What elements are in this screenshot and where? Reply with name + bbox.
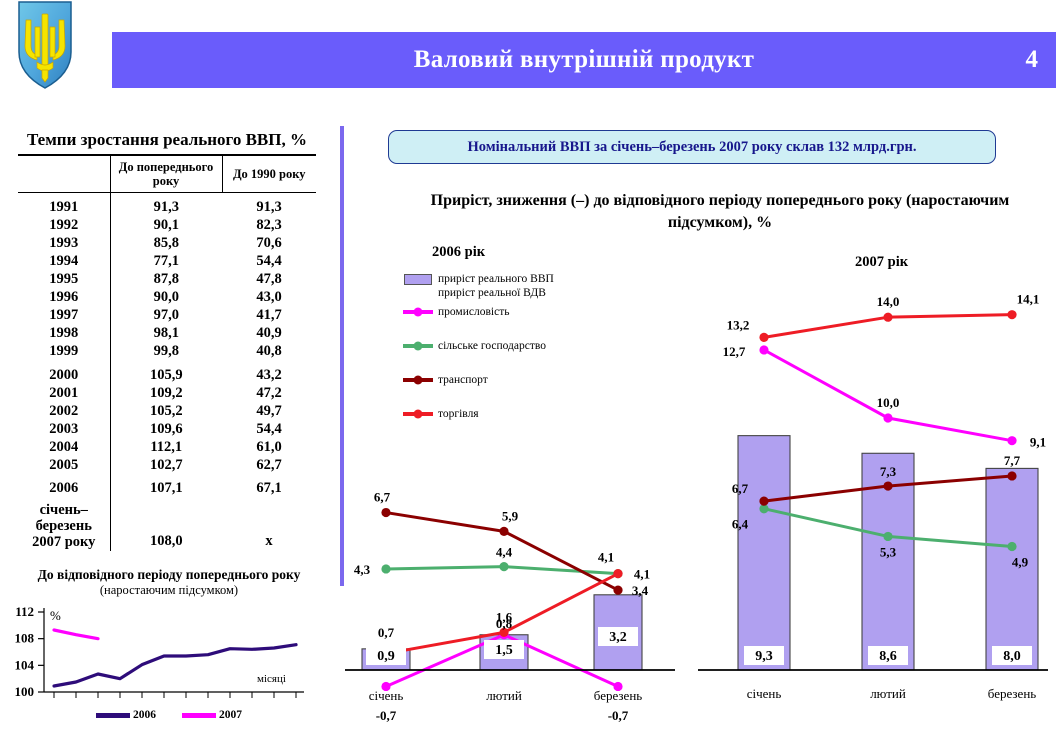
- label-сільське господарство-лютий: 4,4: [496, 545, 513, 560]
- table-row: 199999,840,8: [18, 343, 316, 361]
- cell-1990: 40,9: [222, 325, 316, 343]
- nominal-gdp-callout: Номінальний ВВП за січень–березень 2007 …: [388, 130, 996, 164]
- label-транспорт-березень: 7,7: [1004, 453, 1021, 468]
- cell-1990: 43,2: [222, 361, 316, 385]
- cell-prev-year: 90,1: [110, 217, 222, 235]
- legend-marker-industry: [400, 305, 436, 319]
- cell-prev-year: 90,0: [110, 289, 222, 307]
- cell-year: 2004: [18, 438, 110, 456]
- label-промисловість-січень: 12,7: [723, 344, 746, 359]
- point-промисловість-березень: [1007, 436, 1016, 445]
- column-header-prev-year: До попереднього року: [110, 155, 222, 193]
- label-транспорт-січень: 6,7: [374, 490, 391, 505]
- cell-1990: 70,6: [222, 235, 316, 253]
- label-сільське господарство-січень: 6,4: [732, 517, 749, 532]
- cell-1990: 54,4: [222, 253, 316, 271]
- table-row: 199587,847,8: [18, 271, 316, 289]
- cell-year: 2003: [18, 420, 110, 438]
- cell-prev-year: 85,8: [110, 235, 222, 253]
- cell-year: 2001: [18, 384, 110, 402]
- legend-label-gdp: приріст реального ВВП: [438, 272, 554, 286]
- point-транспорт-лютий: [499, 527, 508, 536]
- point-сільське господарство-січень: [381, 564, 390, 573]
- column-header-blank: [18, 155, 110, 193]
- mini-ytick: 100: [15, 684, 35, 699]
- label-торгівля-березень: 14,1: [1017, 292, 1040, 307]
- label-промисловість-січень: -0,7: [376, 708, 397, 723]
- table-row: 2002105,249,7: [18, 402, 316, 420]
- label-промисловість-березень: 9,1: [1030, 435, 1046, 450]
- cell-1990: 47,8: [222, 271, 316, 289]
- table-row: 2004112,161,0: [18, 438, 316, 456]
- cell-prev-year: 109,6: [110, 420, 222, 438]
- cell-period-label: січень–березень2007 року: [18, 498, 110, 551]
- mini-chart-x-unit: місяці: [257, 673, 286, 685]
- nominal-gdp-callout-text: Номінальний ВВП за січень–березень 2007 …: [467, 139, 916, 156]
- table-header-row: До попереднього року До 1990 року: [18, 155, 316, 193]
- label-транспорт-лютий: 7,3: [880, 464, 897, 479]
- label-промисловість-березень: -0,7: [608, 708, 629, 723]
- legend-marker-agriculture: [400, 339, 436, 353]
- cell-prev-year: 105,2: [110, 402, 222, 420]
- bar-label-лютий: 8,6: [879, 649, 897, 664]
- label-сільське господарство-січень: 4,3: [354, 562, 371, 577]
- cell-year: 1992: [18, 217, 110, 235]
- table-row: 199690,043,0: [18, 289, 316, 307]
- cell-year: 1995: [18, 271, 110, 289]
- table-row: 199290,182,3: [18, 217, 316, 235]
- cell-1990: 82,3: [222, 217, 316, 235]
- legend-item-agriculture: сільське господарство: [400, 339, 650, 357]
- point-торгівля-березень: [1007, 310, 1016, 319]
- legend-line-icon-transport: [403, 378, 433, 382]
- cell-year: 1999: [18, 343, 110, 361]
- category-label-березень: березень: [988, 686, 1037, 701]
- bar-top-label-січень: 0,7: [378, 625, 395, 640]
- cell-final-1990: x: [222, 498, 316, 551]
- label-промисловість-лютий: 10,0: [877, 395, 900, 410]
- slide-number: 4: [1026, 46, 1039, 74]
- cell-1990: 40,8: [222, 343, 316, 361]
- point-торгівля-січень: [759, 333, 768, 342]
- bar-label-березень: 3,2: [609, 630, 627, 645]
- table-row: 199477,154,4: [18, 253, 316, 271]
- legend-marker-gdp: [400, 272, 436, 286]
- label-транспорт-березень: 3,4: [632, 583, 649, 598]
- legend-item-gdp: приріст реального ВВП приріст реальної В…: [400, 272, 650, 300]
- label-сільське господарство-березень: 4,1: [598, 550, 614, 565]
- label-сільське господарство-лютий: 5,3: [880, 544, 897, 559]
- slide-header-bar: Валовий внутрішній продукт 4: [112, 32, 1056, 88]
- cell-1990: 43,0: [222, 289, 316, 307]
- cell-1990: 54,4: [222, 420, 316, 438]
- cell-prev-year: 109,2: [110, 384, 222, 402]
- label-сільське господарство-березень: 4,9: [1012, 555, 1029, 570]
- cell-prev-year: 91,3: [110, 193, 222, 217]
- cell-prev-year: 112,1: [110, 438, 222, 456]
- cell-1990: 67,1: [222, 474, 316, 498]
- mini-chart-y-unit: %: [50, 608, 61, 623]
- cell-1990: 61,0: [222, 438, 316, 456]
- mini-chart-subtitle: (наростаючим підсумком): [4, 583, 334, 598]
- cell-prev-year: 99,8: [110, 343, 222, 361]
- point-сільське господарство-лютий: [883, 532, 892, 541]
- cell-prev-year: 98,1: [110, 325, 222, 343]
- column-header-1990: До 1990 року: [222, 155, 316, 193]
- ukraine-coat-of-arms-icon: [13, 0, 77, 92]
- table-row: 199191,391,3: [18, 193, 316, 217]
- mini-legend-label-2006: 2006: [133, 709, 156, 721]
- mini-legend-label-2007: 2007: [219, 709, 242, 721]
- label-торгівля-березень: 4,1: [634, 567, 650, 582]
- chart-2007: 9,38,68,012,710,09,16,45,34,96,77,37,713…: [690, 260, 1056, 740]
- cell-1990: 91,3: [222, 193, 316, 217]
- charts-legend: приріст реального ВВП приріст реальної В…: [400, 272, 650, 430]
- legend-item-industry: промисловість: [400, 305, 650, 323]
- cell-year: 1996: [18, 289, 110, 307]
- table-row: 2003109,654,4: [18, 420, 316, 438]
- cell-prev-year: 97,0: [110, 307, 222, 325]
- legend-label-gva: приріст реальної ВДВ: [438, 286, 554, 300]
- mini-chart-plot: 100104108112 % місяці: [4, 600, 334, 708]
- charts-section-title: Приріст, зниження (–) до відповідного пе…: [420, 190, 1020, 233]
- legend-label-agriculture: сільське господарство: [436, 339, 546, 353]
- cell-final-prev-year: 108,0: [110, 498, 222, 551]
- cell-year: 1998: [18, 325, 110, 343]
- point-транспорт-березень: [1007, 471, 1016, 480]
- cell-year: 2006: [18, 474, 110, 498]
- table-row: 199385,870,6: [18, 235, 316, 253]
- mini-legend-item-2006: 2006: [96, 709, 156, 721]
- bar-січень: [738, 436, 790, 670]
- legend-marker-trade: [400, 407, 436, 421]
- label-транспорт-січень: 6,7: [732, 481, 749, 496]
- point-сільське господарство-лютий: [499, 562, 508, 571]
- mini-ytick: 104: [15, 657, 35, 672]
- label-торгівля-лютий: 14,0: [877, 294, 900, 309]
- table-row: 2001109,247,2: [18, 384, 316, 402]
- bar-label-січень: 0,9: [377, 649, 395, 664]
- label-торгівля-лютий: 1,6: [496, 609, 513, 624]
- legend-line-icon-trade: [403, 412, 433, 416]
- bar-label-березень: 8,0: [1003, 649, 1021, 664]
- label-транспорт-лютий: 5,9: [502, 508, 519, 523]
- cell-1990: 62,7: [222, 456, 316, 474]
- cell-prev-year: 107,1: [110, 474, 222, 498]
- table-title: Темпи зростання реального ВВП, %: [8, 130, 326, 150]
- legend-marker-transport: [400, 373, 436, 387]
- legend-item-transport: транспорт: [400, 373, 650, 391]
- point-транспорт-січень: [381, 508, 390, 517]
- cell-year: 2000: [18, 361, 110, 385]
- cell-prev-year: 105,9: [110, 361, 222, 385]
- table-row-final: січень–березень2007 року108,0x: [18, 498, 316, 551]
- cell-year: 2002: [18, 402, 110, 420]
- category-label-березень: березень: [594, 688, 643, 703]
- category-label-лютий: лютий: [870, 686, 906, 701]
- cell-year: 1991: [18, 193, 110, 217]
- legend-line-icon-industry: [403, 310, 433, 314]
- point-торгівля-лютий: [883, 313, 892, 322]
- cell-year: 1993: [18, 235, 110, 253]
- table-row: 2005102,762,7: [18, 456, 316, 474]
- point-транспорт-січень: [759, 497, 768, 506]
- chart-2006: 0,91,53,20,70,8-0,7-0,74,34,44,16,75,93,…: [340, 420, 680, 740]
- label-торгівля-січень: 13,2: [727, 317, 750, 332]
- mini-legend-swatch-2007: [182, 713, 216, 718]
- bar-label-січень: 9,3: [755, 649, 773, 664]
- mini-chart-legend: 2006 2007: [4, 709, 334, 721]
- mini-line-chart: До відповідного періоду попереднього рок…: [4, 568, 334, 740]
- chart-2006-year-label: 2006 рік: [432, 244, 485, 261]
- cell-prev-year: 77,1: [110, 253, 222, 271]
- point-сільське господарство-березень: [1007, 542, 1016, 551]
- cell-1990: 41,7: [222, 307, 316, 325]
- bar-label-лютий: 1,5: [495, 643, 513, 658]
- mini-ytick: 108: [15, 631, 35, 646]
- cell-1990: 49,7: [222, 402, 316, 420]
- cell-1990: 47,2: [222, 384, 316, 402]
- mini-legend-swatch-2006: [96, 713, 130, 718]
- gdp-growth-table-container: Темпи зростання реального ВВП, % До попе…: [8, 130, 326, 551]
- table-row: 2000105,943,2: [18, 361, 316, 385]
- mini-ytick: 112: [15, 604, 34, 619]
- mini-legend-item-2007: 2007: [182, 709, 242, 721]
- point-транспорт-лютий: [883, 481, 892, 490]
- table-row: 199898,140,9: [18, 325, 316, 343]
- cell-prev-year: 102,7: [110, 456, 222, 474]
- point-промисловість-січень: [759, 345, 768, 354]
- point-торгівля-березень: [613, 569, 622, 578]
- gdp-growth-table: До попереднього року До 1990 року 199191…: [18, 154, 316, 551]
- table-row: 199797,041,7: [18, 307, 316, 325]
- cell-prev-year: 87,8: [110, 271, 222, 289]
- legend-label-transport: транспорт: [436, 373, 488, 387]
- category-label-січень: січень: [369, 688, 404, 703]
- point-промисловість-лютий: [883, 413, 892, 422]
- legend-line-icon-agriculture: [403, 344, 433, 348]
- cell-year: 1994: [18, 253, 110, 271]
- legend-box-icon: [404, 274, 432, 285]
- category-label-лютий: лютий: [486, 688, 522, 703]
- mini-series-2007: [54, 630, 98, 639]
- page-title: Валовий внутрішній продукт: [414, 46, 755, 74]
- legend-label-industry: промисловість: [436, 305, 509, 319]
- mini-chart-title: До відповідного періоду попереднього рок…: [4, 568, 334, 583]
- cell-year: 2005: [18, 456, 110, 474]
- table-row: 2006107,167,1: [18, 474, 316, 498]
- point-транспорт-березень: [613, 586, 622, 595]
- cell-year: 1997: [18, 307, 110, 325]
- category-label-січень: січень: [747, 686, 782, 701]
